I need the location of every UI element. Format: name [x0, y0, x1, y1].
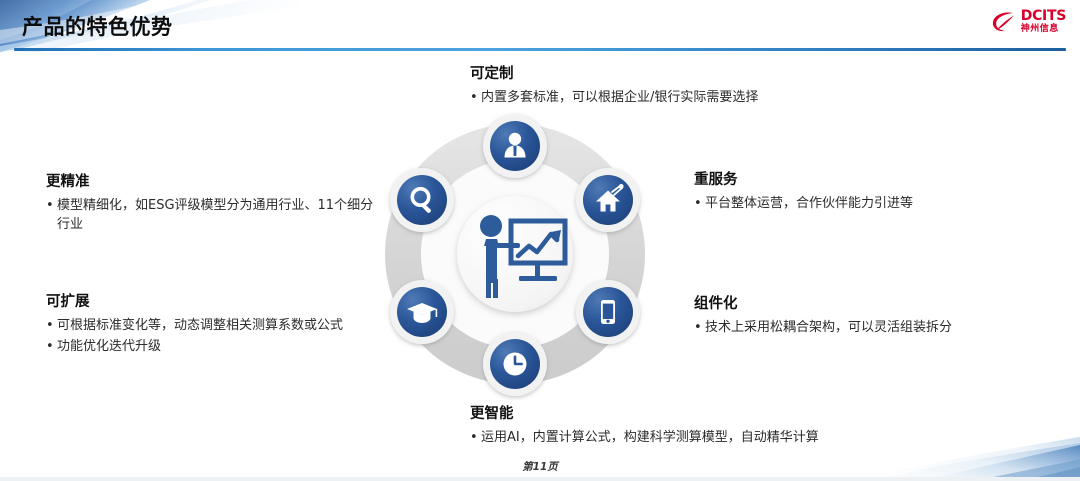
feature-block-zujianhua: 组件化 • 技术上采用松耦合架构，可以灵活组装拆分 — [694, 292, 1024, 339]
diagram-node-search[interactable] — [390, 168, 454, 232]
feature-bullet-text: 功能优化迭代升级 — [57, 337, 378, 356]
feature-bullet-text: 内置多套标准，可以根据企业/银行实际需要选择 — [481, 88, 890, 107]
brand-logo: DCITS 神州信息 — [991, 9, 1066, 34]
feature-bullet-text: 平台整体运营，合作伙伴能力引进等 — [705, 194, 1024, 213]
feature-block-kedingzhi: 可定制 • 内置多套标准，可以根据企业/银行实际需要选择 — [470, 62, 890, 109]
bullet-marker-icon: • — [694, 194, 705, 213]
feature-bullet: • 功能优化迭代升级 — [46, 337, 378, 356]
feature-title: 更智能 — [470, 402, 940, 423]
bullet-marker-icon: • — [470, 88, 481, 107]
bullet-marker-icon: • — [46, 196, 57, 234]
slide-header: 产品的特色优势 DCITS 神州信息 — [0, 0, 1080, 52]
feature-block-zhongfuwu: 重服务 • 平台整体运营，合作伙伴能力引进等 — [694, 168, 1024, 215]
feature-bullet: • 技术上采用松耦合架构，可以灵活组装拆分 — [694, 318, 1024, 337]
diagram-center-disc — [457, 196, 573, 312]
feature-bullet: • 模型精细化，如ESG评级模型分为通用行业、11个细分行业 — [46, 196, 376, 234]
feature-block-kekuozhan: 可扩展 • 可根据标准变化等，动态调整相关测算系数或公式 • 功能优化迭代升级 — [46, 290, 378, 358]
logo-text-en: DCITS — [1021, 9, 1066, 23]
feature-title: 更精准 — [46, 170, 376, 191]
bullet-marker-icon: • — [470, 428, 481, 447]
feature-title: 可定制 — [470, 62, 890, 83]
feature-bullet: • 内置多套标准，可以根据企业/银行实际需要选择 — [470, 88, 890, 107]
feature-title: 组件化 — [694, 292, 1024, 313]
hexagonal-feature-diagram — [372, 108, 658, 400]
feature-title: 重服务 — [694, 168, 1024, 189]
feature-bullet-text: 技术上采用松耦合架构，可以灵活组装拆分 — [705, 318, 1024, 337]
logo-text-cn: 神州信息 — [1021, 25, 1066, 34]
footer-bottom-band — [0, 477, 1080, 481]
bullet-marker-icon: • — [694, 318, 705, 337]
feature-bullet-text: 可根据标准变化等，动态调整相关测算系数或公式 — [57, 316, 378, 335]
page-title: 产品的特色优势 — [22, 11, 173, 41]
dcits-swoosh-icon — [991, 10, 1017, 34]
feature-block-gengjingzhun: 更精准 • 模型精细化，如ESG评级模型分为通用行业、11个细分行业 — [46, 170, 376, 236]
diagram-node-mobile[interactable] — [576, 280, 640, 344]
feature-bullet: • 平台整体运营，合作伙伴能力引进等 — [694, 194, 1024, 213]
page-number: 第11页 — [0, 459, 1080, 474]
diagram-node-clock[interactable] — [483, 332, 547, 396]
diagram-node-user[interactable] — [483, 114, 547, 178]
header-divider-line — [14, 48, 1066, 51]
bullet-marker-icon: • — [46, 337, 57, 356]
diagram-node-graduation[interactable] — [390, 280, 454, 344]
bullet-marker-icon: • — [46, 316, 57, 335]
feature-bullet-text: 模型精细化，如ESG评级模型分为通用行业、11个细分行业 — [57, 196, 376, 234]
diagram-node-house[interactable] — [576, 168, 640, 232]
feature-bullet: • 可根据标准变化等，动态调整相关测算系数或公式 — [46, 316, 378, 335]
feature-title: 可扩展 — [46, 290, 378, 311]
